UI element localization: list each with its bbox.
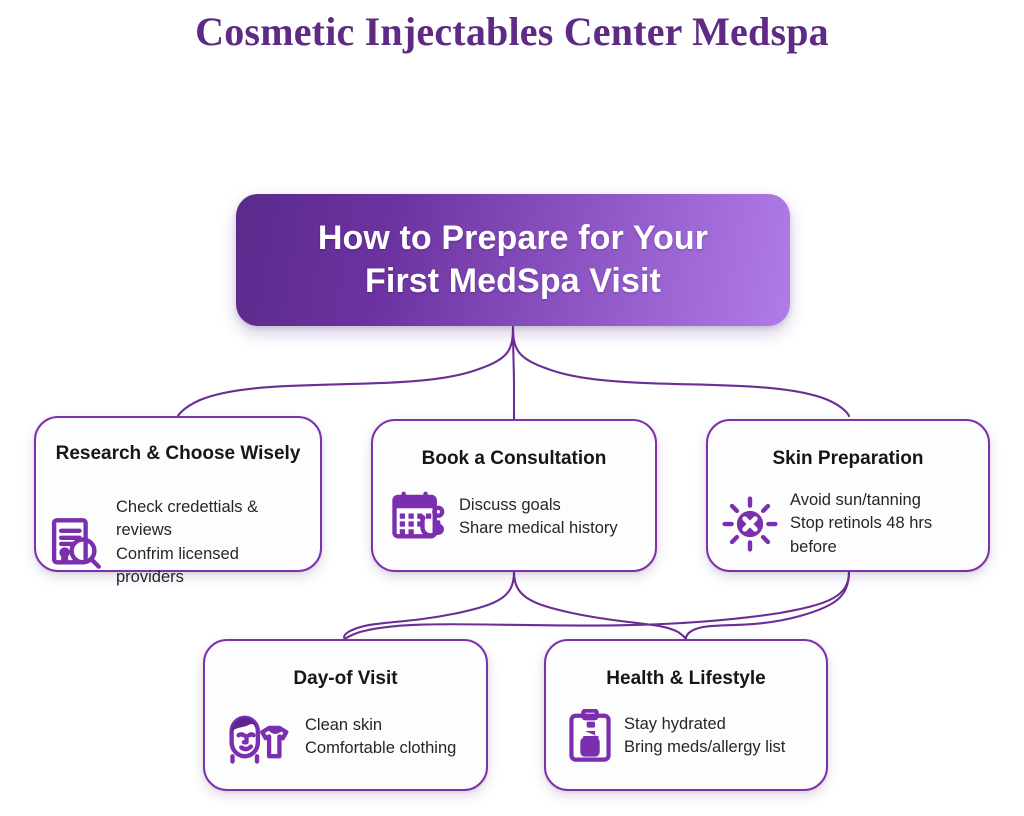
card-detail-lines: Stay hydrated Bring meds/allergy list xyxy=(624,713,785,760)
connector-lines xyxy=(0,0,1024,816)
card-skin[interactable]: Skin Preparation Avo xyxy=(706,419,990,572)
card-title: Health & Lifestyle xyxy=(558,667,814,690)
certificate-magnifier-icon xyxy=(48,515,104,571)
card-body: Discuss goals Share medical history xyxy=(391,489,643,545)
card-body: Avoid sun/tanning Stop retinols 48 hrs b… xyxy=(722,489,976,559)
edge-skin-health xyxy=(686,572,849,639)
calendar-stethoscope-icon xyxy=(391,489,447,545)
header-banner: How to Prepare for Your First MedSpa Vis… xyxy=(236,194,790,326)
card-detail-lines: Discuss goals Share medical history xyxy=(459,494,618,541)
clipboard-bottle-icon xyxy=(568,709,612,763)
card-title: Day-of Visit xyxy=(217,667,474,690)
card-dayof[interactable]: Day-of Visit Clean skin Comfortable clot… xyxy=(203,639,488,791)
card-body: Check credettials & reviews Confrim lice… xyxy=(48,496,308,590)
page-title: Cosmetic Injectables Center Medspa xyxy=(0,8,1024,55)
card-title: Book a Consultation xyxy=(385,447,643,470)
card-consult[interactable]: Book a Consultation Discuss go xyxy=(371,419,657,572)
card-detail-lines: Check credettials & reviews Confrim lice… xyxy=(116,496,308,590)
card-detail-lines: Clean skin Comfortable clothing xyxy=(305,714,456,761)
face-tshirt-icon xyxy=(221,709,293,765)
infographic-canvas: Cosmetic Injectables Center Medspa How t… xyxy=(0,0,1024,816)
no-sun-icon xyxy=(722,496,778,552)
edge-consult-dayof xyxy=(344,572,514,639)
edge-root-research xyxy=(178,327,513,416)
card-health[interactable]: Health & Lifestyle Stay hydrated Bring m… xyxy=(544,639,828,791)
card-title: Research & Choose Wisely xyxy=(48,442,308,465)
card-research[interactable]: Research & Choose Wisely Check credettia… xyxy=(34,416,322,572)
edge-consult-health xyxy=(514,572,686,639)
header-title: How to Prepare for Your First MedSpa Vis… xyxy=(300,217,726,303)
edge-skin-dayof xyxy=(345,572,849,639)
edge-root-skin xyxy=(513,327,849,416)
edge-root-consult xyxy=(513,327,514,419)
card-title: Skin Preparation xyxy=(720,447,976,470)
card-body: Stay hydrated Bring meds/allergy list xyxy=(568,709,814,763)
card-body: Clean skin Comfortable clothing xyxy=(221,709,474,765)
card-detail-lines: Avoid sun/tanning Stop retinols 48 hrs b… xyxy=(790,489,976,559)
